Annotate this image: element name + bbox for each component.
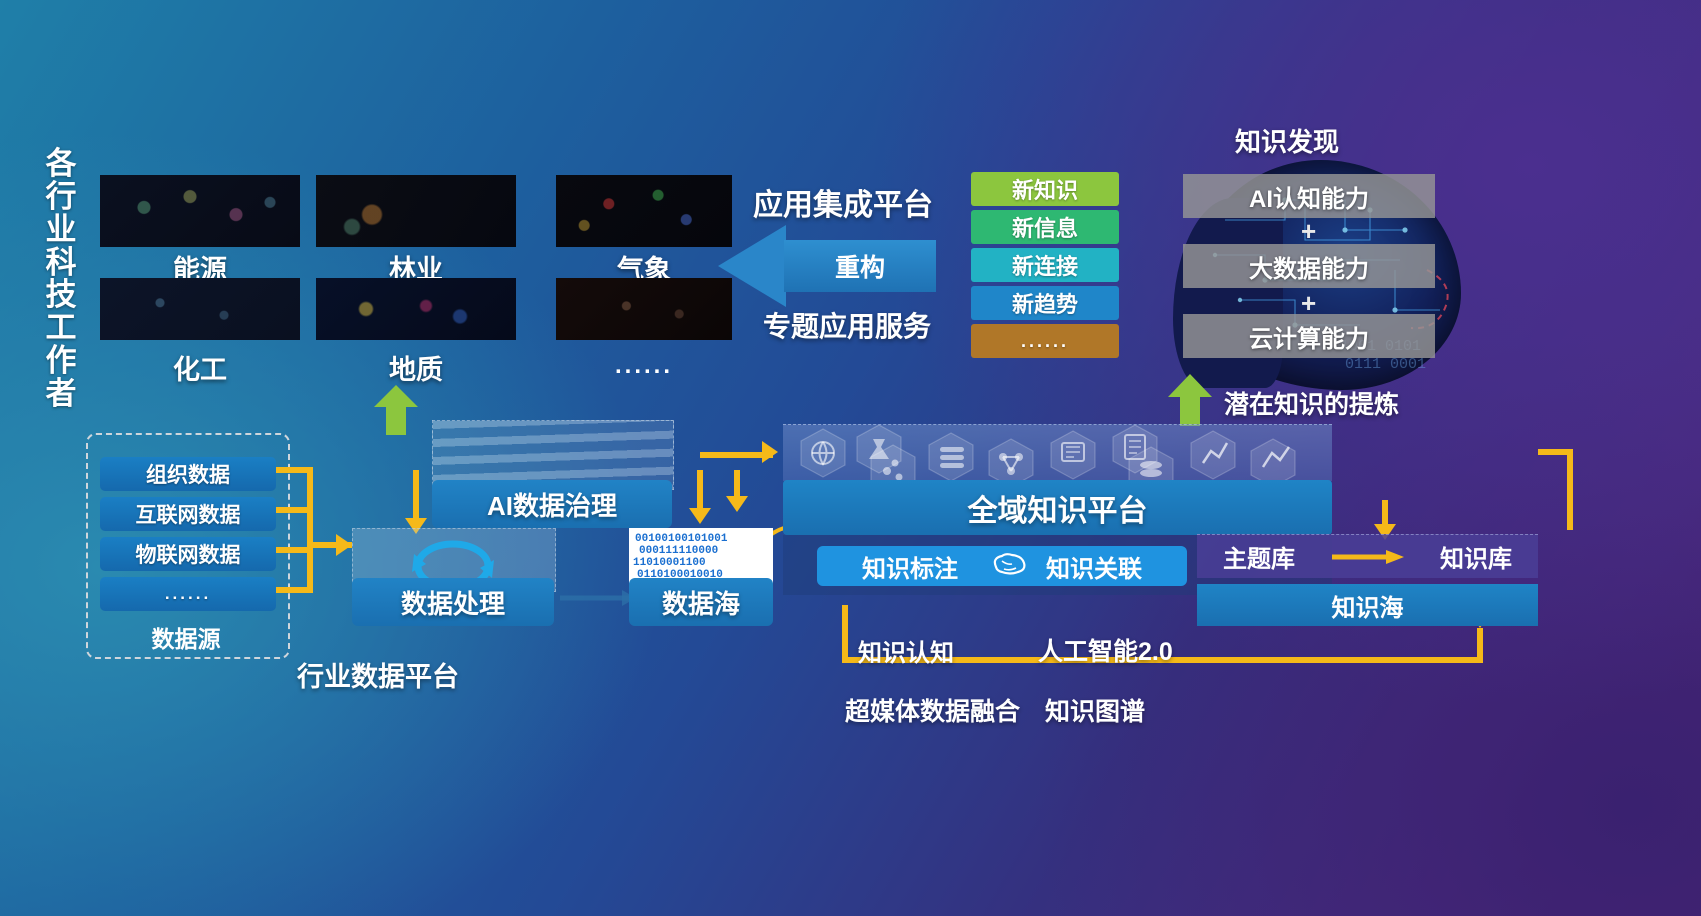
knowledge-sea-card[interactable]: 知识海	[1197, 584, 1538, 626]
svg-text:000111110000: 000111110000	[639, 545, 718, 557]
svg-text:00100100101001: 00100100101001	[635, 533, 728, 545]
global-knowledge-platform-label: 全域知识平台	[968, 486, 1148, 530]
note-knowledge-graph: 知识图谱	[1045, 692, 1145, 728]
data-processing-label: 数据处理	[401, 584, 505, 621]
knowledge-association-label: 知识关联	[1046, 549, 1142, 584]
data-processing-card[interactable]: 数据处理	[352, 578, 554, 626]
ai-governance-label: AI数据治理	[487, 486, 617, 523]
note-ai-20: 人工智能2.0	[1038, 632, 1173, 668]
brain-icon	[990, 553, 1026, 579]
svg-text:11010001100: 11010001100	[633, 557, 706, 569]
diagram-canvas: 各行业科技工作者 能源 林业 气象 化工 地质 ...... 应用集成平台 重构…	[0, 0, 1701, 916]
knowledge-library-label: 知识库	[1440, 539, 1512, 574]
ai-governance-card[interactable]: AI数据治理	[432, 480, 672, 528]
knowledge-annotation-label: 知识标注	[862, 549, 958, 584]
knowledge-platform-icon-strip	[783, 424, 1332, 481]
library-row: 主题库 知识库	[1197, 534, 1538, 578]
note-hypermedia-fusion: 超媒体数据融合	[845, 692, 1020, 728]
library-arrow-icon	[1332, 550, 1404, 564]
data-sea-card[interactable]: 数据海	[629, 578, 773, 626]
hexagon-icons	[783, 425, 1332, 481]
data-sea-label: 数据海	[662, 584, 740, 621]
knowledge-sea-label: 知识海	[1332, 588, 1404, 623]
knowledge-subrow[interactable]: 知识标注 知识关联	[817, 546, 1187, 586]
note-knowledge-cognition: 知识认知	[858, 633, 954, 668]
subject-library-label: 主题库	[1223, 539, 1295, 574]
recycle-arrows-icon	[400, 538, 506, 582]
global-knowledge-platform-card[interactable]: 全域知识平台	[783, 480, 1332, 535]
